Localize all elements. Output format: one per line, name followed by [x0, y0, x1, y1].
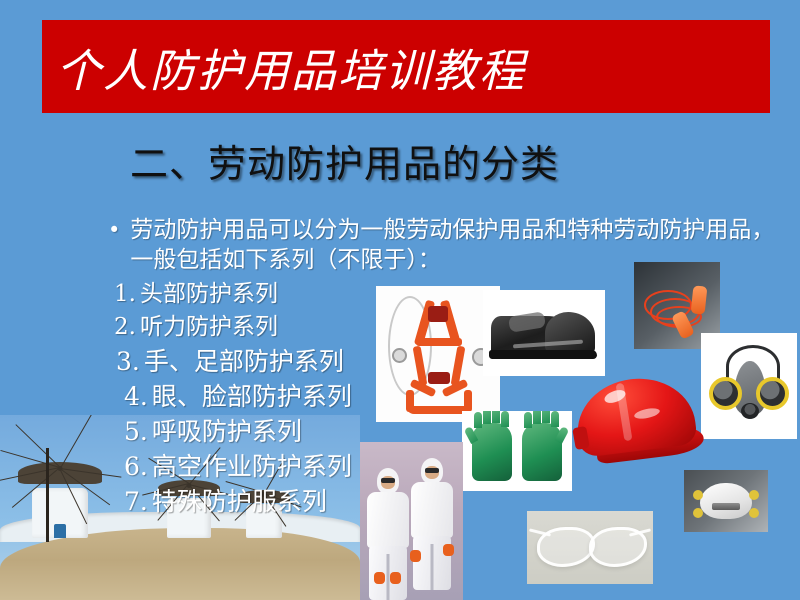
windmill-icon	[4, 460, 116, 538]
list-item-label: 眼、脸部防护系列	[152, 379, 352, 414]
list-item-label: 呼吸防护系列	[152, 414, 302, 449]
safety-shoe-photo	[483, 290, 605, 376]
list-item-index: 1.	[114, 278, 136, 311]
sandy-ground	[0, 528, 360, 600]
slide-title-banner: 个人防护用品培训教程	[42, 20, 770, 113]
list-item-label: 手、足部防护系列	[144, 344, 344, 379]
list-item-label: 特殊防护服系列	[152, 484, 327, 519]
list-item-label: 头部防护系列	[140, 278, 278, 311]
list-item-index: 6.	[124, 449, 148, 484]
half-face-respirator-photo	[701, 333, 797, 439]
list-item-index: 5.	[124, 414, 148, 449]
n95-dust-mask-photo	[684, 470, 768, 532]
list-item-index: 4.	[124, 379, 148, 414]
presentation-slide: 个人防护用品培训教程 二、劳动防护用品的分类 • 劳动防护用品可以分为一般劳动保…	[0, 0, 800, 600]
safety-harness-photo	[376, 286, 500, 422]
page-title: 个人防护用品培训教程	[56, 34, 526, 99]
section-heading: 二、劳动防护用品的分类	[130, 133, 559, 188]
list-item-index: 3.	[116, 344, 140, 379]
green-gloves-photo	[462, 411, 572, 491]
safety-glasses-photo	[527, 511, 653, 584]
bullet-dot-icon: •	[108, 215, 120, 245]
white-coverall-workers-photo	[360, 442, 463, 600]
list-item-label: 听力防护系列	[140, 311, 278, 344]
list-item-index: 2.	[114, 311, 136, 344]
list-item-index: 7.	[124, 484, 148, 519]
list-item-label: 高空作业防护系列	[152, 449, 352, 484]
red-hard-hat-photo	[568, 365, 708, 475]
